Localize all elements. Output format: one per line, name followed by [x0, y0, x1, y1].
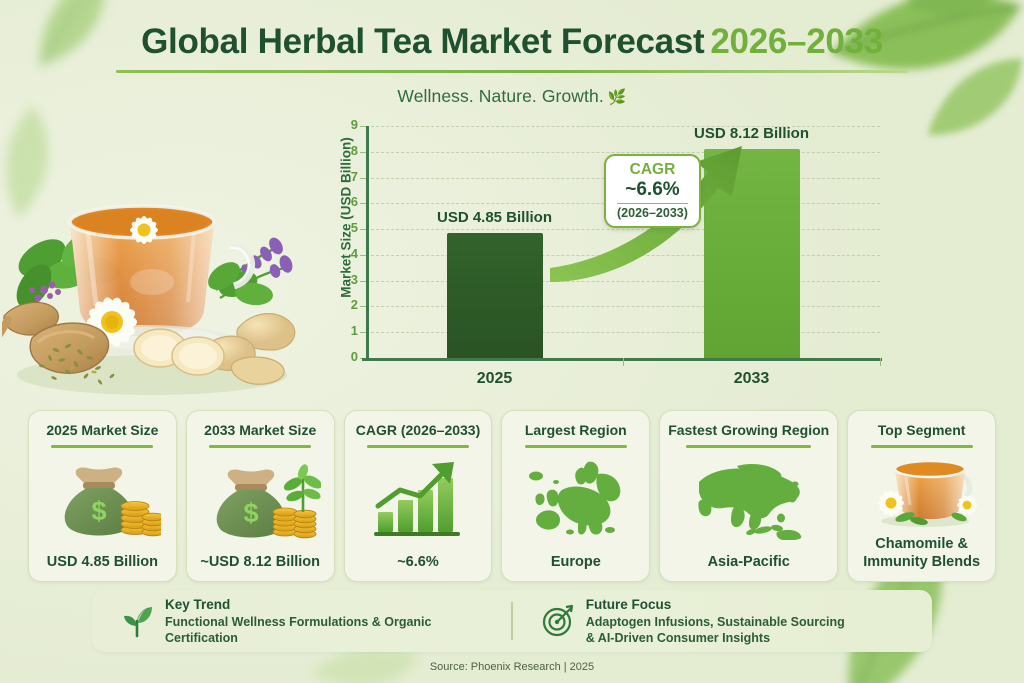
kpi-card-row: 2025 Market Size $ [28, 410, 996, 582]
kpi-title: 2033 Market Size [204, 422, 316, 438]
header: Global Herbal Tea Market Forecast2026–20… [0, 22, 1024, 107]
chamomile-tea-cup-icon [856, 448, 987, 535]
kpi-value: Chamomile & Immunity Blends [863, 535, 980, 571]
chart-plot-area: 0123456789 USD 4.85 Billion2025USD 8.12 … [366, 126, 880, 358]
kpi-title: CAGR (2026–2033) [356, 422, 481, 438]
kpi-value: ~6.6% [397, 553, 439, 571]
y-tick-label: 3 [334, 272, 358, 287]
y-tick-label: 0 [334, 349, 358, 364]
cagr-badge: CAGR ~6.6% (2026–2033) [604, 154, 701, 228]
infographic-canvas: Global Herbal Tea Market Forecast2026–20… [0, 0, 1024, 683]
y-tick-label: 8 [334, 143, 358, 158]
y-tick-label: 5 [334, 220, 358, 235]
cagr-value: ~6.6% [617, 179, 688, 200]
subtitle: Wellness. Nature. Growth.🌿 [0, 86, 1024, 107]
future-focus-body-line1: Adaptogen Infusions, Sustainable Sourcin… [586, 614, 845, 630]
europe-map-icon [510, 448, 641, 553]
kpi-card-fastest-growing-region[interactable]: Fastest Growing Region [659, 410, 838, 582]
future-focus-body-line2: & AI-Driven Consumer Insights [586, 630, 845, 646]
future-focus-item: Future Focus Adaptogen Infusions, Sustai… [513, 596, 932, 645]
x-axis-label-2033: 2033 [692, 370, 812, 388]
herbal-tea-cup-photo [2, 170, 302, 400]
gridline [366, 332, 880, 333]
title-years-text: 2026–2033 [710, 22, 883, 61]
future-focus-heading: Future Focus [586, 596, 845, 613]
key-trend-body: Functional Wellness Formulations & Organ… [165, 614, 503, 646]
money-bag-coins-icon: $ [37, 448, 168, 553]
x-tick-mark [623, 358, 624, 366]
kpi-value: USD 4.85 Billion [47, 553, 158, 571]
kpi-card-largest-region[interactable]: Largest Region [501, 410, 650, 582]
y-tick-label: 1 [334, 323, 358, 338]
future-focus-text: Future Focus Adaptogen Infusions, Sustai… [586, 596, 845, 645]
insight-strip: Key Trend Functional Wellness Formulatio… [92, 590, 932, 652]
cagr-label: CAGR [617, 161, 688, 178]
subtitle-text: Wellness. Nature. Growth. [397, 86, 603, 106]
money-bag-coins-sprout-icon: $ [195, 448, 326, 553]
x-axis-label-2025: 2025 [435, 370, 555, 388]
leaf-icon: 🌿 [608, 89, 627, 106]
kpi-value-line2: Immunity Blends [863, 553, 980, 571]
kpi-value: Europe [551, 553, 601, 571]
key-trend-item: Key Trend Functional Wellness Formulatio… [92, 596, 511, 645]
kpi-title: 2025 Market Size [46, 422, 158, 438]
kpi-value-line1: Chamomile & [863, 535, 980, 553]
y-tick-label: 9 [334, 117, 358, 132]
y-axis-line [366, 126, 369, 358]
x-tick-mark [880, 358, 881, 366]
svg-text:$: $ [92, 496, 107, 526]
kpi-value: ~USD 8.12 Billion [200, 553, 320, 571]
asia-pacific-map-icon [668, 448, 829, 553]
x-axis-line [362, 358, 882, 361]
kpi-card-2025-market-size[interactable]: 2025 Market Size $ [28, 410, 177, 582]
key-trend-heading: Key Trend [165, 596, 503, 613]
cagr-period: (2026–2033) [617, 203, 688, 220]
kpi-card-cagr[interactable]: CAGR (2026–2033) [344, 410, 493, 582]
source-note: Source: Phoenix Research | 2025 [0, 661, 1024, 673]
kpi-card-2033-market-size[interactable]: 2033 Market Size $ [186, 410, 335, 582]
page-title: Global Herbal Tea Market Forecast2026–20… [0, 22, 1024, 62]
key-trend-text: Key Trend Functional Wellness Formulatio… [165, 596, 503, 645]
growth-bar-chart-arrow-icon [353, 448, 484, 553]
target-bullseye-icon [541, 604, 575, 638]
y-tick-label: 7 [334, 169, 358, 184]
y-tick-label: 4 [334, 246, 358, 261]
svg-text:$: $ [244, 498, 259, 528]
bar-2025[interactable] [447, 233, 543, 358]
kpi-title: Largest Region [525, 422, 627, 438]
kpi-title: Top Segment [878, 422, 966, 438]
kpi-card-top-segment[interactable]: Top Segment [847, 410, 996, 582]
title-main-text: Global Herbal Tea Market Forecast [141, 22, 704, 61]
kpi-title: Fastest Growing Region [668, 422, 829, 438]
title-divider [116, 70, 908, 73]
market-forecast-bar-chart: Market Size (USD Billion) 0123456789 USD… [318, 118, 888, 390]
y-tick-label: 2 [334, 297, 358, 312]
kpi-value: Asia-Pacific [708, 553, 790, 571]
sprout-leaf-icon [120, 604, 154, 638]
y-tick-label: 6 [334, 194, 358, 209]
